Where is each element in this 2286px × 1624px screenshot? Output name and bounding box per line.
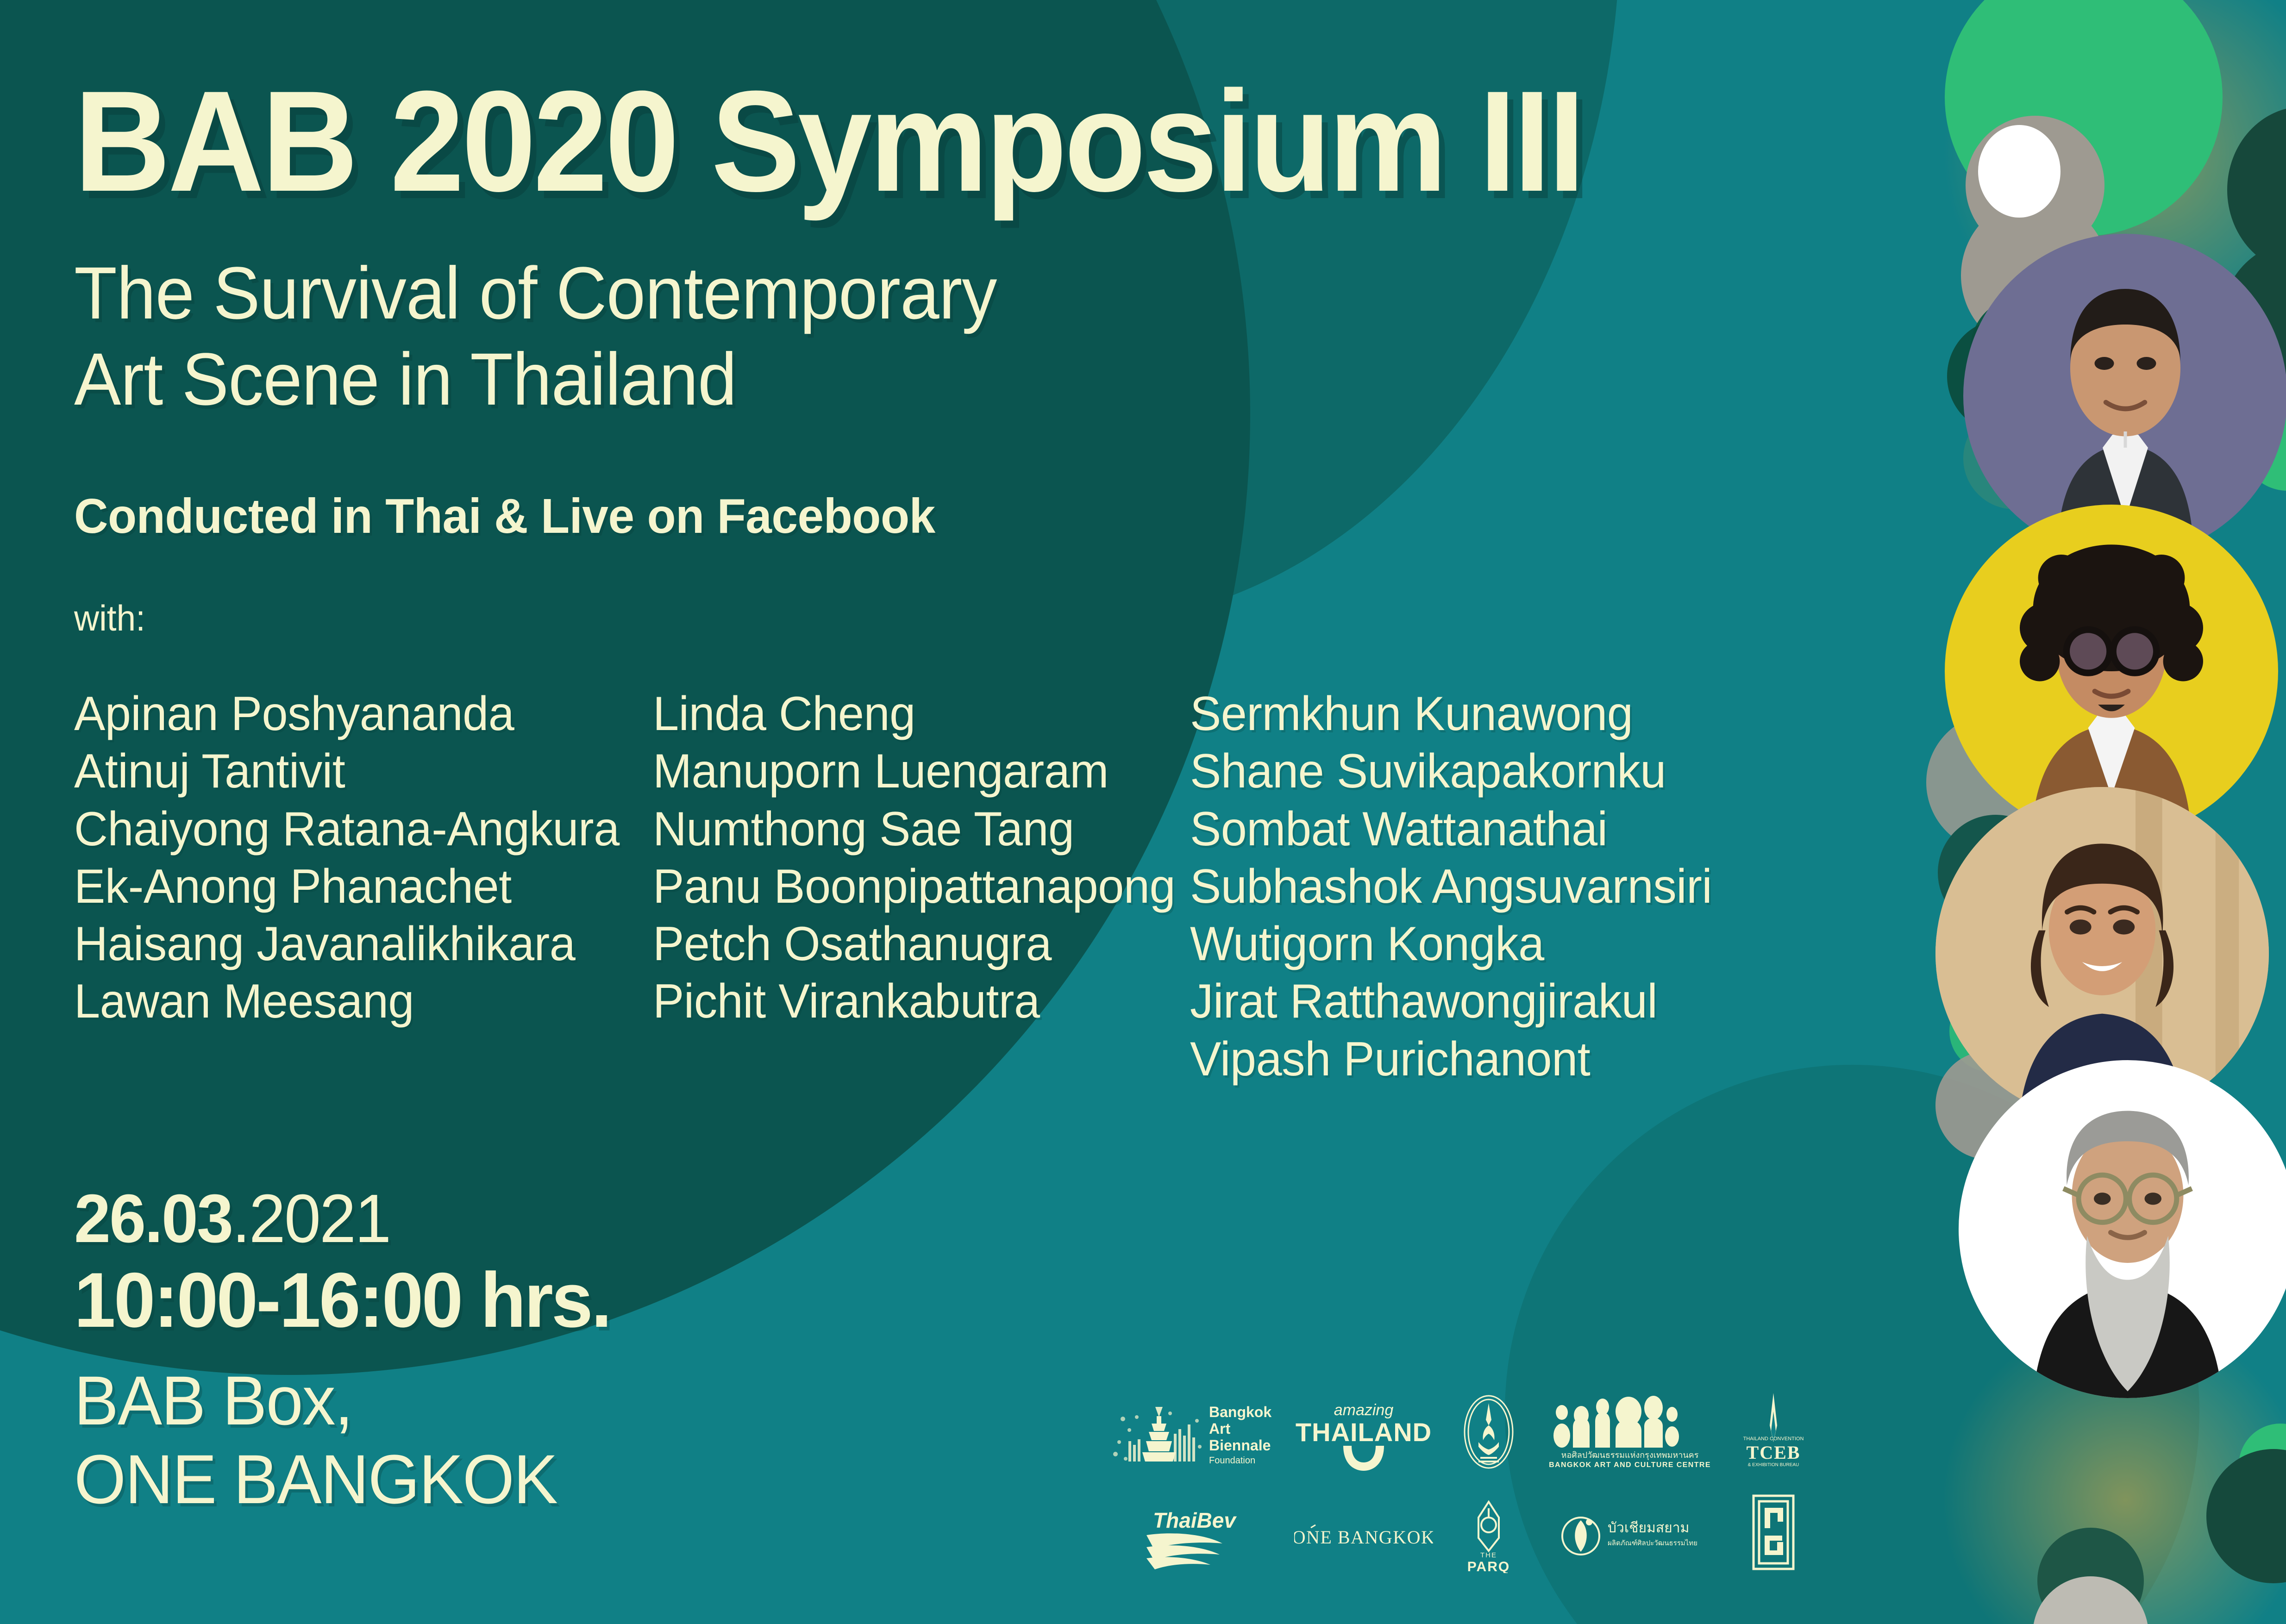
- speaker-name: Lawan Meesang: [74, 973, 636, 1030]
- speaker-name: Ek-Anong Phanachet: [74, 858, 636, 915]
- event-date-day-month: 26.03: [74, 1181, 232, 1257]
- svg-text:amazing: amazing: [1334, 1401, 1394, 1419]
- venue-line-2: ONE BANGKOK: [74, 1440, 610, 1519]
- speaker-name: Wutigorn Kongka: [1190, 915, 1774, 973]
- sponsor-row-2: ThaiBev ONE BANGKOK: [1102, 1480, 1898, 1573]
- speaker-name: Atinuj Tantivit: [74, 743, 636, 800]
- event-details: 26.03.2021 10:00-16:00 hrs. BAB Box, ONE…: [74, 1183, 633, 1518]
- logo-thai-seal-square: [1722, 1492, 1824, 1573]
- svg-text:ThaiBev: ThaiBev: [1153, 1508, 1237, 1532]
- logo-ministry-seal: [1440, 1391, 1537, 1472]
- event-date: 26.03.2021: [74, 1183, 610, 1255]
- speaker-name: Subhashok Angsuvarnsiri: [1190, 858, 1774, 915]
- svg-text:หอศิลปวัฒนธรรมแห่งกรุงเทพมหานค: หอศิลปวัฒนธรรมแห่งกรุงเทพมหานคร: [1561, 1450, 1699, 1460]
- svg-text:THAILAND: THAILAND: [1296, 1418, 1432, 1447]
- logo-tceb: THAILAND CONVENTION TCEB & EXHIBITION BU…: [1722, 1391, 1824, 1472]
- svg-text:บัวเชียมสยาม: บัวเชียมสยาม: [1608, 1520, 1689, 1536]
- event-date-year: .2021: [232, 1181, 390, 1257]
- speaker-column-2: Linda Cheng Manuporn Luengaram Numthong …: [653, 685, 1190, 1088]
- poster-content: BAB 2020 Symposium III The Survival of C…: [0, 0, 2286, 1624]
- logo-bua-luang-sayam: บัวเชียมสยาม ผลิตภัณฑ์ศิลปะวัฒนธรรมไทย: [1537, 1499, 1722, 1573]
- event-poster: BAB 2020 Symposium III The Survival of C…: [0, 0, 2286, 1624]
- page-title: BAB 2020 Symposium III: [74, 69, 1583, 213]
- speaker-name: Haisang Javanalikhikara: [74, 915, 636, 973]
- speaker-name: Shane Suvikapakornku: [1190, 743, 1774, 800]
- speaker-name: Sermkhun Kunawong: [1190, 685, 1774, 743]
- subtitle-line-1: The Survival of Contemporary: [74, 250, 996, 336]
- logo-the-parq: THE PARQ: [1440, 1499, 1537, 1573]
- svg-text:THAILAND CONVENTION: THAILAND CONVENTION: [1743, 1436, 1804, 1442]
- svg-text:Bangkok: Bangkok: [1209, 1404, 1271, 1420]
- speaker-name: Apinan Poshyananda: [74, 685, 636, 743]
- speaker-name: Linda Cheng: [653, 685, 1174, 743]
- speaker-name: Jirat Ratthawongjirakul: [1190, 973, 1774, 1030]
- speaker-name: Manuporn Luengaram: [653, 743, 1174, 800]
- speaker-list: Apinan Poshyananda Atinuj Tantivit Chaiy…: [74, 685, 1792, 1088]
- svg-text:BANGKOK ART AND CULTURE CENTRE: BANGKOK ART AND CULTURE CENTRE: [1549, 1461, 1711, 1469]
- svg-text:& EXHIBITION BUREAU: & EXHIBITION BUREAU: [1748, 1462, 1799, 1468]
- speaker-column-1: Apinan Poshyananda Atinuj Tantivit Chaiy…: [74, 685, 653, 1088]
- event-venue: BAB Box, ONE BANGKOK: [74, 1362, 610, 1518]
- speaker-name: Petch Osathanugra: [653, 915, 1174, 973]
- sponsor-row-1: Bangkok Art Biennale Foundation amazing …: [1102, 1377, 1898, 1472]
- logo-one-bangkok: ONE BANGKOK: [1287, 1499, 1440, 1573]
- logo-bangkok-art-biennale-foundation: Bangkok Art Biennale Foundation: [1102, 1391, 1287, 1472]
- speaker-name: Pichit Virankabutra: [653, 973, 1174, 1030]
- speaker-name: Sombat Wattanathai: [1190, 800, 1774, 858]
- venue-line-1: BAB Box,: [74, 1362, 610, 1440]
- speaker-column-3: Sermkhun Kunawong Shane Suvikapakornku S…: [1190, 685, 1792, 1088]
- svg-text:ผลิตภัณฑ์ศิลปะวัฒนธรรมไทย: ผลิตภัณฑ์ศิลปะวัฒนธรรมไทย: [1608, 1539, 1697, 1547]
- svg-text:Foundation: Foundation: [1209, 1455, 1255, 1466]
- with-label: with:: [74, 597, 145, 639]
- event-time: 10:00-16:00 hrs.: [74, 1257, 610, 1343]
- logo-bangkok-art-and-culture-centre: หอศิลปวัฒนธรรมแห่งกรุงเทพมหานคร BANGKOK …: [1537, 1391, 1722, 1472]
- broadcast-mode-line: Conducted in Thai & Live on Facebook: [74, 488, 935, 544]
- svg-text:Biennale: Biennale: [1209, 1437, 1271, 1454]
- poster-subtitle: The Survival of Contemporary Art Scene i…: [74, 250, 996, 422]
- svg-text:PARQ: PARQ: [1467, 1559, 1510, 1573]
- svg-text:ONE BANGKOK: ONE BANGKOK: [1294, 1527, 1433, 1548]
- svg-text:THE: THE: [1480, 1551, 1497, 1559]
- svg-text:TCEB: TCEB: [1747, 1442, 1801, 1463]
- logo-amazing-thailand: amazing THAILAND: [1287, 1391, 1440, 1472]
- speaker-name: Numthong Sae Tang: [653, 800, 1174, 858]
- speaker-name: Vipash Purichanont: [1190, 1031, 1774, 1088]
- speaker-name: Panu Boonpipattanapong: [653, 858, 1174, 915]
- subtitle-line-2: Art Scene in Thailand: [74, 336, 996, 422]
- svg-text:Art: Art: [1209, 1420, 1231, 1437]
- speaker-name: Chaiyong Ratana-Angkura: [74, 800, 636, 858]
- logo-thaibev: ThaiBev: [1102, 1499, 1287, 1573]
- sponsor-logos: Bangkok Art Biennale Foundation amazing …: [1102, 1377, 1898, 1573]
